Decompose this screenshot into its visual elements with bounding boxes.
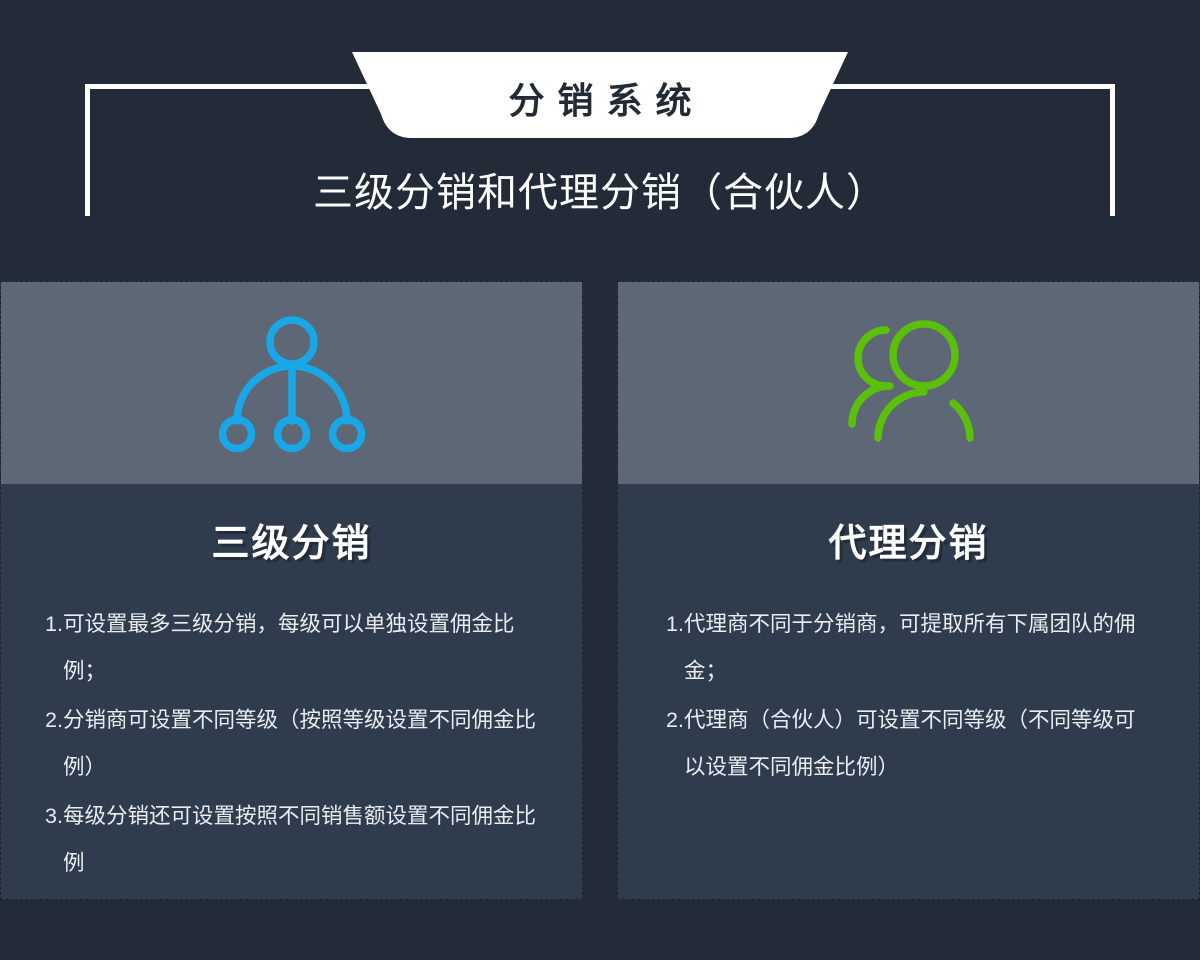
list-item-text: 可设置最多三级分销，每级可以单独设置佣金比例； [63, 601, 538, 695]
card-body: 代理分销 1. 代理商不同于分销商，可提取所有下属团队的佣金； 2. 代理商（合… [618, 484, 1199, 899]
list-item: 2. 分销商可设置不同等级（按照等级设置不同佣金比例） [45, 697, 538, 791]
card-icon-area [618, 282, 1199, 484]
list-item: 2. 代理商（合伙人）可设置不同等级（不同等级可以设置不同佣金比例） [666, 697, 1155, 791]
list-item: 3. 每级分销还可设置按照不同销售额设置不同佣金比例 [45, 793, 538, 887]
list-item-number: 2. [45, 697, 63, 744]
list-item-number: 1. [45, 601, 63, 648]
list-item-number: 2. [666, 697, 684, 744]
feature-list: 1. 可设置最多三级分销，每级可以单独设置佣金比例； 2. 分销商可设置不同等级… [35, 601, 548, 887]
cards-container: 三级分销 1. 可设置最多三级分销，每级可以单独设置佣金比例； 2. 分销商可设… [0, 281, 1200, 900]
list-item-number: 3. [45, 793, 63, 840]
list-item-text: 每级分销还可设置按照不同销售额设置不同佣金比例 [63, 793, 538, 887]
card-body: 三级分销 1. 可设置最多三级分销，每级可以单独设置佣金比例； 2. 分销商可设… [1, 484, 582, 899]
list-item-text: 代理商不同于分销商，可提取所有下属团队的佣金； [684, 601, 1155, 695]
list-item: 1. 可设置最多三级分销，每级可以单独设置佣金比例； [45, 601, 538, 695]
hierarchy-tree-icon [217, 308, 367, 458]
page-subtitle: 三级分销和代理分销（合伙人） [0, 160, 1200, 218]
banner-title-text: 分销系统 [352, 52, 848, 138]
card-title: 代理分销 [652, 512, 1165, 567]
list-item-text: 分销商可设置不同等级（按照等级设置不同佣金比例） [63, 697, 538, 791]
page-header: 分销系统 三级分销和代理分销（合伙人） [0, 0, 1200, 281]
list-item-text: 代理商（合伙人）可设置不同等级（不同等级可以设置不同佣金比例） [684, 697, 1155, 791]
card-icon-area [1, 282, 582, 484]
title-banner: 分销系统 [352, 52, 848, 138]
card-title: 三级分销 [35, 512, 548, 567]
feature-list: 1. 代理商不同于分销商，可提取所有下属团队的佣金； 2. 代理商（合伙人）可设… [652, 601, 1165, 791]
card-three-level-distribution[interactable]: 三级分销 1. 可设置最多三级分销，每级可以单独设置佣金比例； 2. 分销商可设… [0, 281, 583, 900]
list-item: 1. 代理商不同于分销商，可提取所有下属团队的佣金； [666, 601, 1155, 695]
two-people-icon [834, 308, 984, 458]
list-item-number: 1. [666, 601, 684, 648]
card-agent-distribution[interactable]: 代理分销 1. 代理商不同于分销商，可提取所有下属团队的佣金； 2. 代理商（合… [617, 281, 1200, 900]
